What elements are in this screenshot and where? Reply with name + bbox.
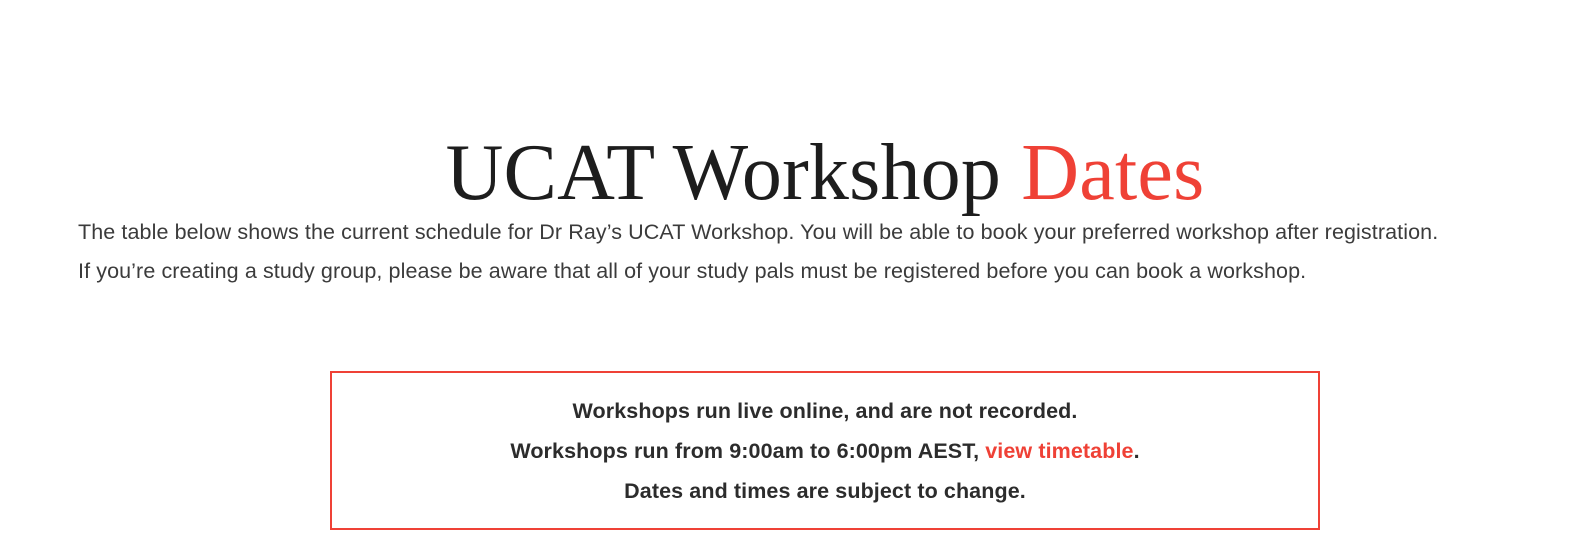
page-title: UCAT Workshop Dates	[0, 126, 1579, 220]
intro-text: The table below shows the current schedu…	[78, 213, 1510, 291]
page-title-main: UCAT Workshop	[446, 129, 1022, 217]
callout-hours-prefix: Workshops run from 9:00am to 6:00pm AEST…	[510, 439, 985, 463]
callout-line-subject-to-change: Dates and times are subject to change.	[624, 471, 1026, 511]
workshop-info-callout: Workshops run live online, and are not r…	[330, 371, 1320, 530]
intro-paragraph-1: The table below shows the current schedu…	[78, 213, 1510, 252]
intro-paragraph-2: If you’re creating a study group, please…	[78, 252, 1510, 291]
view-timetable-link[interactable]: view timetable	[985, 439, 1133, 463]
page-root: UCAT Workshop Dates The table below show…	[0, 0, 1579, 549]
callout-line-live-online: Workshops run live online, and are not r…	[573, 391, 1078, 431]
callout-line-hours: Workshops run from 9:00am to 6:00pm AEST…	[510, 431, 1139, 471]
callout-hours-suffix: .	[1134, 439, 1140, 463]
page-title-accent: Dates	[1021, 129, 1204, 217]
